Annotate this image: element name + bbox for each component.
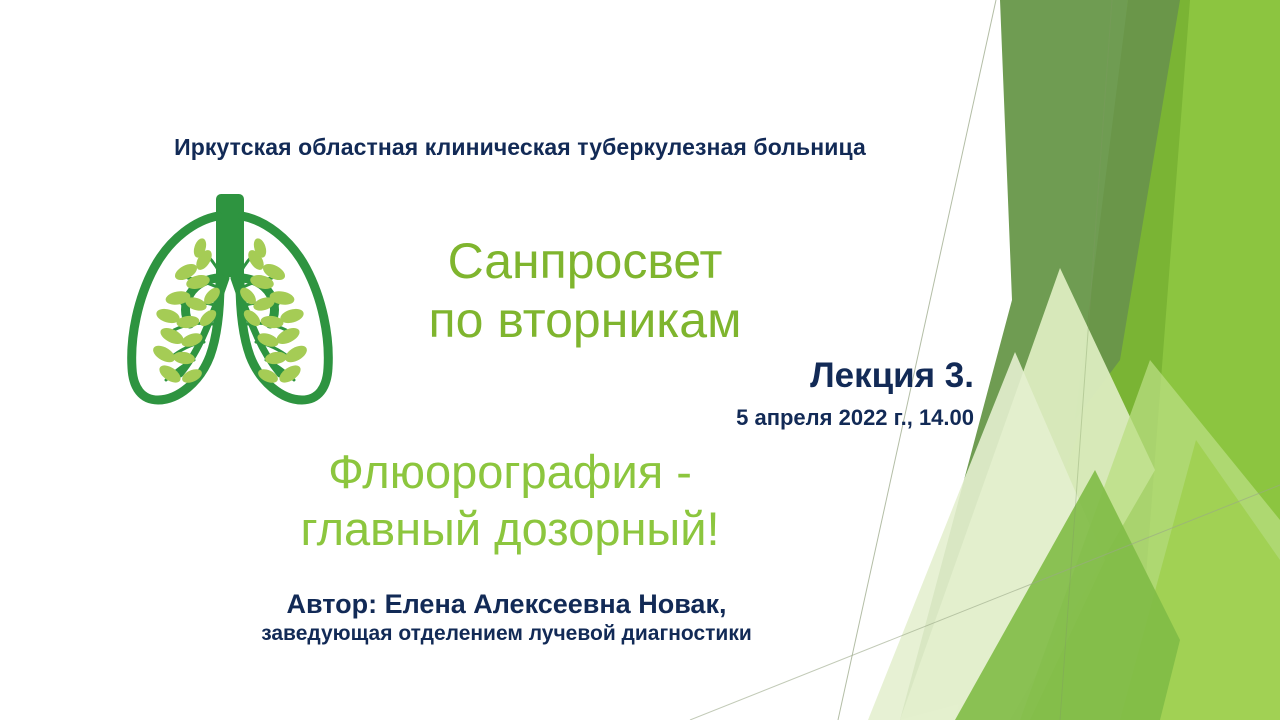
- lungs-logo: [108, 186, 352, 416]
- bg-shape-translucent-a: [1020, 360, 1280, 720]
- bg-shape-pale-upper: [900, 268, 1155, 720]
- topic-title-line-2: главный дозорный!: [160, 500, 860, 557]
- author-info: Автор: Елена Алексеевна Новак, заведующа…: [0, 589, 1013, 646]
- bg-shape-olive-dark: [1075, 0, 1180, 420]
- author-name: Автор: Елена Алексеевна Новак,: [0, 589, 1013, 619]
- author-position: заведующая отделением лучевой диагностик…: [0, 621, 1013, 646]
- lecture-info: Лекция 3. 5 апреля 2022 г., 14.00: [470, 357, 974, 432]
- topic-title: Флюорография - главный дозорный!: [160, 443, 860, 558]
- trachea-icon: [216, 194, 244, 277]
- lecture-number: Лекция 3.: [470, 357, 974, 396]
- topic-title-line-1: Флюорография -: [160, 443, 860, 500]
- bg-shape-bright-right: [1060, 0, 1280, 720]
- lecture-datetime: 5 апреля 2022 г., 14.00: [470, 403, 974, 433]
- organization-name: Иркутская областная клиническая туберкул…: [0, 134, 1040, 161]
- series-title-line-2: по вторникам: [330, 291, 840, 350]
- series-title-line-1: Санпросвет: [330, 232, 840, 291]
- bg-hairline-diagonal-3: [1060, 0, 1112, 720]
- lungs-outline-group: [132, 194, 329, 400]
- bg-shape-translucent-b: [1120, 440, 1280, 720]
- presentation-slide: Иркутская областная клиническая туберкул…: [0, 0, 1280, 720]
- series-title: Санпросвет по вторникам: [330, 232, 840, 350]
